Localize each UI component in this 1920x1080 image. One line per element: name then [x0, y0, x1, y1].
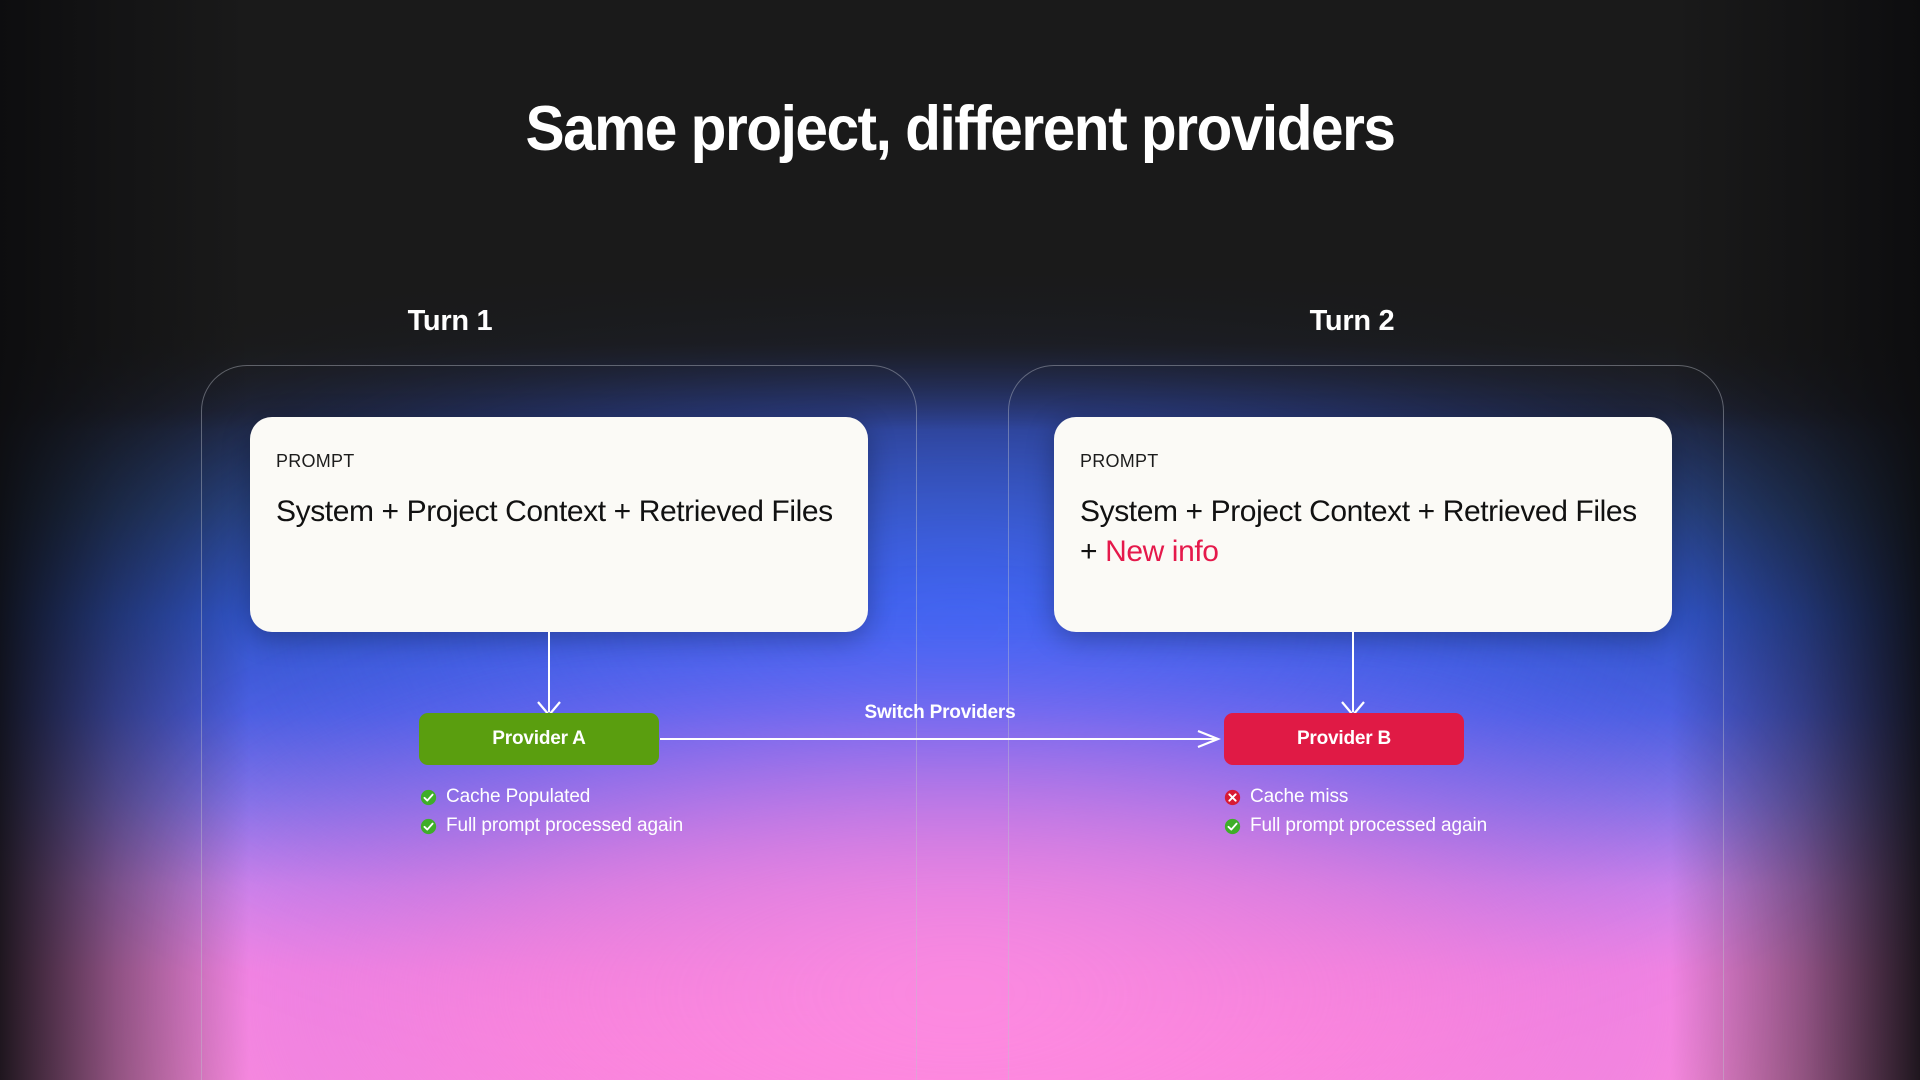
provider-b-label: Provider B	[1297, 728, 1391, 750]
status-label: Full prompt processed again	[1250, 815, 1487, 837]
prompt-card-turn-2: PROMPT System + Project Context + Retrie…	[1054, 417, 1672, 632]
status-item: Cache Populated	[420, 786, 683, 808]
x-circle-icon	[1224, 789, 1241, 806]
arrow-right-icon	[1196, 729, 1222, 749]
page-title: Same project, different providers	[67, 93, 1853, 165]
status-item: Cache miss	[1224, 786, 1487, 808]
status-label: Cache miss	[1250, 786, 1348, 808]
status-label: Cache Populated	[446, 786, 590, 808]
turn-1-label: Turn 1	[330, 305, 570, 338]
provider-a-node[interactable]: Provider A	[419, 713, 659, 765]
prompt-kicker-label: PROMPT	[276, 451, 842, 472]
switch-connector-line	[660, 738, 1218, 740]
status-label: Full prompt processed again	[446, 815, 683, 837]
status-item: Full prompt processed again	[1224, 815, 1487, 837]
prompt-card-turn-1: PROMPT System + Project Context + Retrie…	[250, 417, 868, 632]
status-item: Full prompt processed again	[420, 815, 683, 837]
slide-canvas: Same project, different providers Turn 1…	[0, 0, 1920, 1080]
prompt-body-main: System + Project Context + Retrieved Fil…	[276, 495, 833, 528]
prompt-body-text: System + Project Context + Retrieved Fil…	[1080, 492, 1646, 572]
provider-b-node[interactable]: Provider B	[1224, 713, 1464, 765]
status-list-turn-2: Cache miss Full prompt processed again	[1224, 786, 1487, 844]
prompt-body-text: System + Project Context + Retrieved Fil…	[276, 492, 842, 532]
prompt-kicker-label: PROMPT	[1080, 451, 1646, 472]
provider-a-label: Provider A	[492, 728, 585, 750]
switch-providers-label: Switch Providers	[790, 702, 1090, 724]
check-circle-icon	[1224, 818, 1241, 835]
prompt-body-accent: New info	[1105, 535, 1219, 568]
turn-2-label: Turn 2	[1232, 305, 1472, 338]
check-circle-icon	[420, 789, 437, 806]
status-list-turn-1: Cache Populated Full prompt processed ag…	[420, 786, 683, 844]
check-circle-icon	[420, 818, 437, 835]
